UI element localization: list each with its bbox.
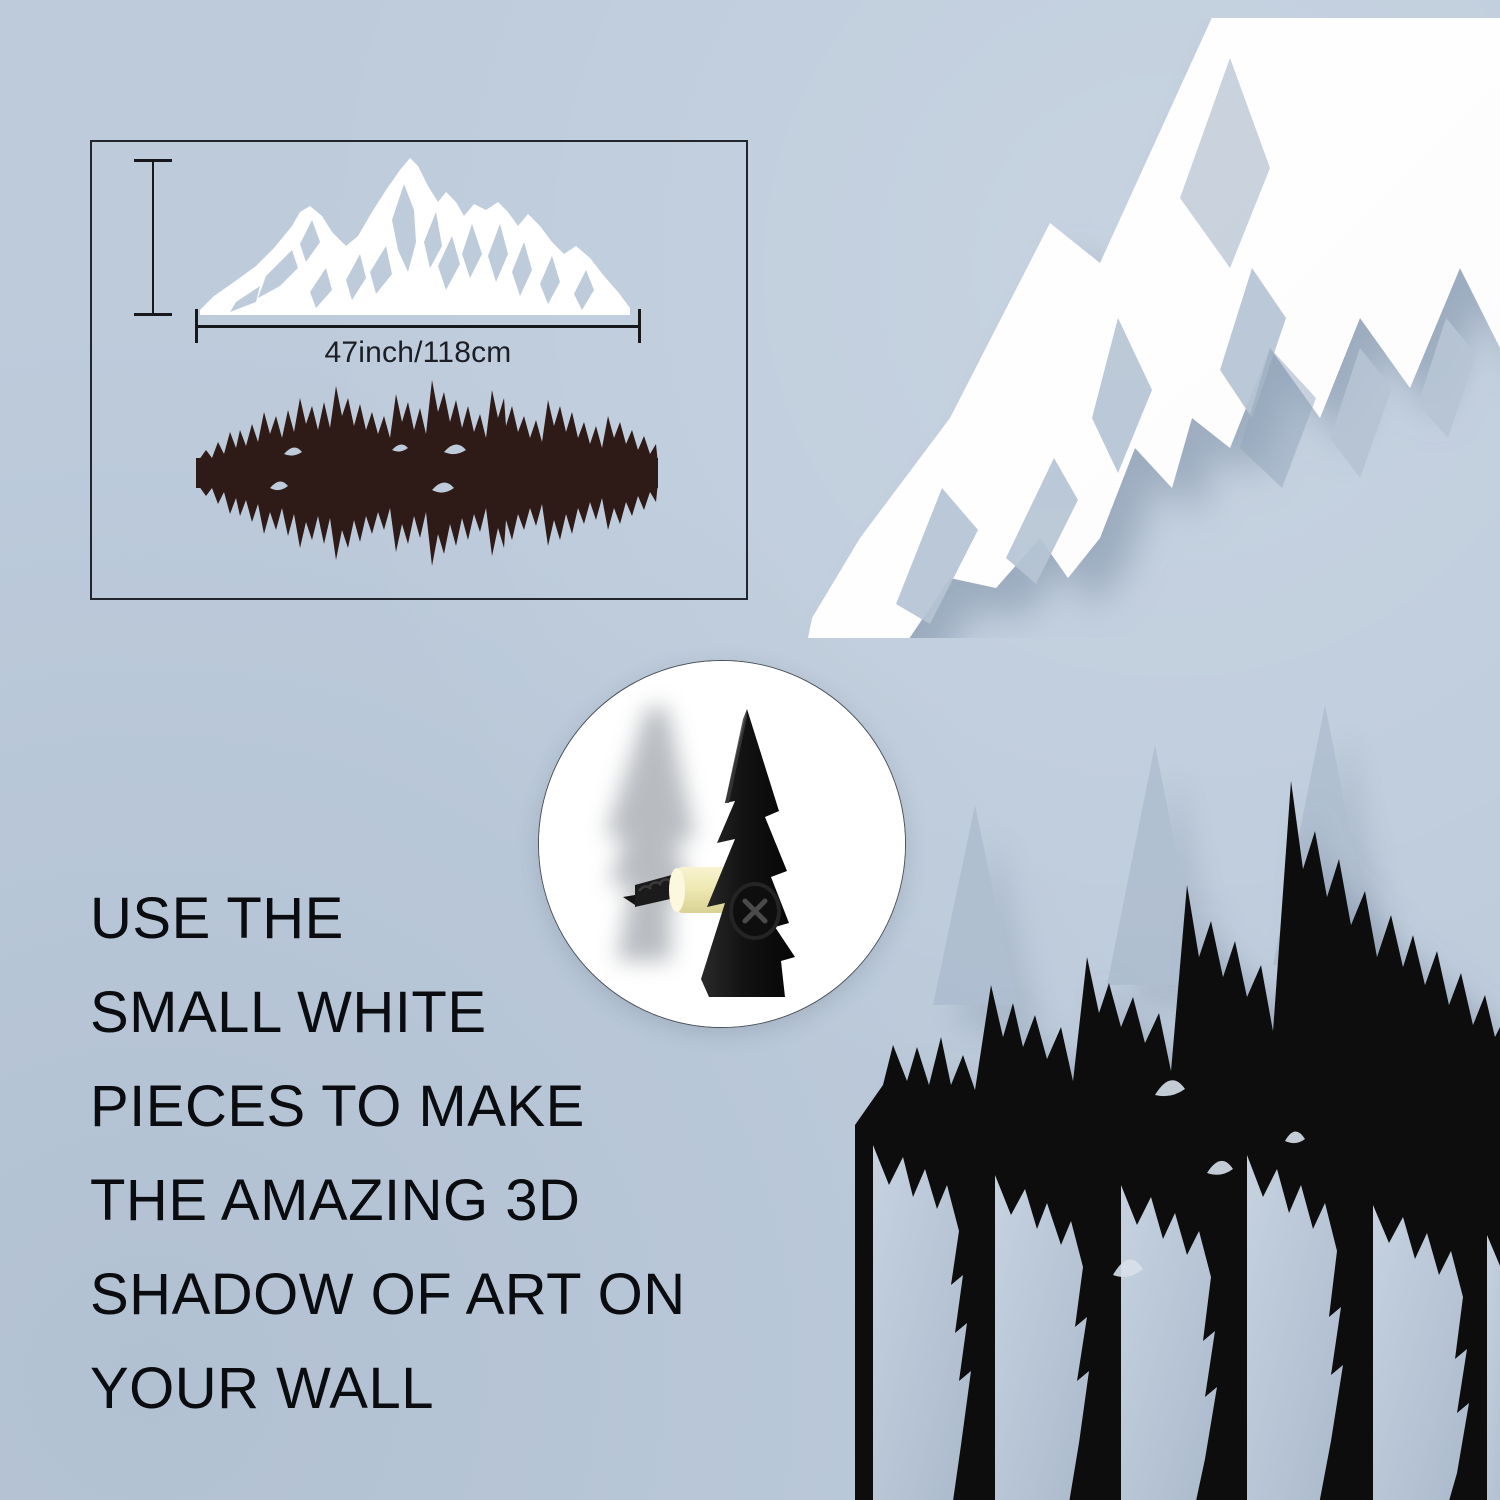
dimension-label: 47inch/118cm	[196, 336, 640, 370]
spec-mountain-silhouette	[200, 150, 630, 315]
width-dimension-line	[196, 325, 640, 328]
product-image-canvas: 47inch/118cm	[0, 0, 1500, 1500]
large-black-forest-art	[855, 585, 1500, 1500]
spec-forest-silhouette	[196, 372, 658, 568]
large-white-mountain-art	[800, 18, 1500, 638]
instruction-text: USE THE SMALL WHITE PIECES TO MAKE THE A…	[90, 872, 790, 1436]
height-dimension-line	[152, 160, 154, 315]
